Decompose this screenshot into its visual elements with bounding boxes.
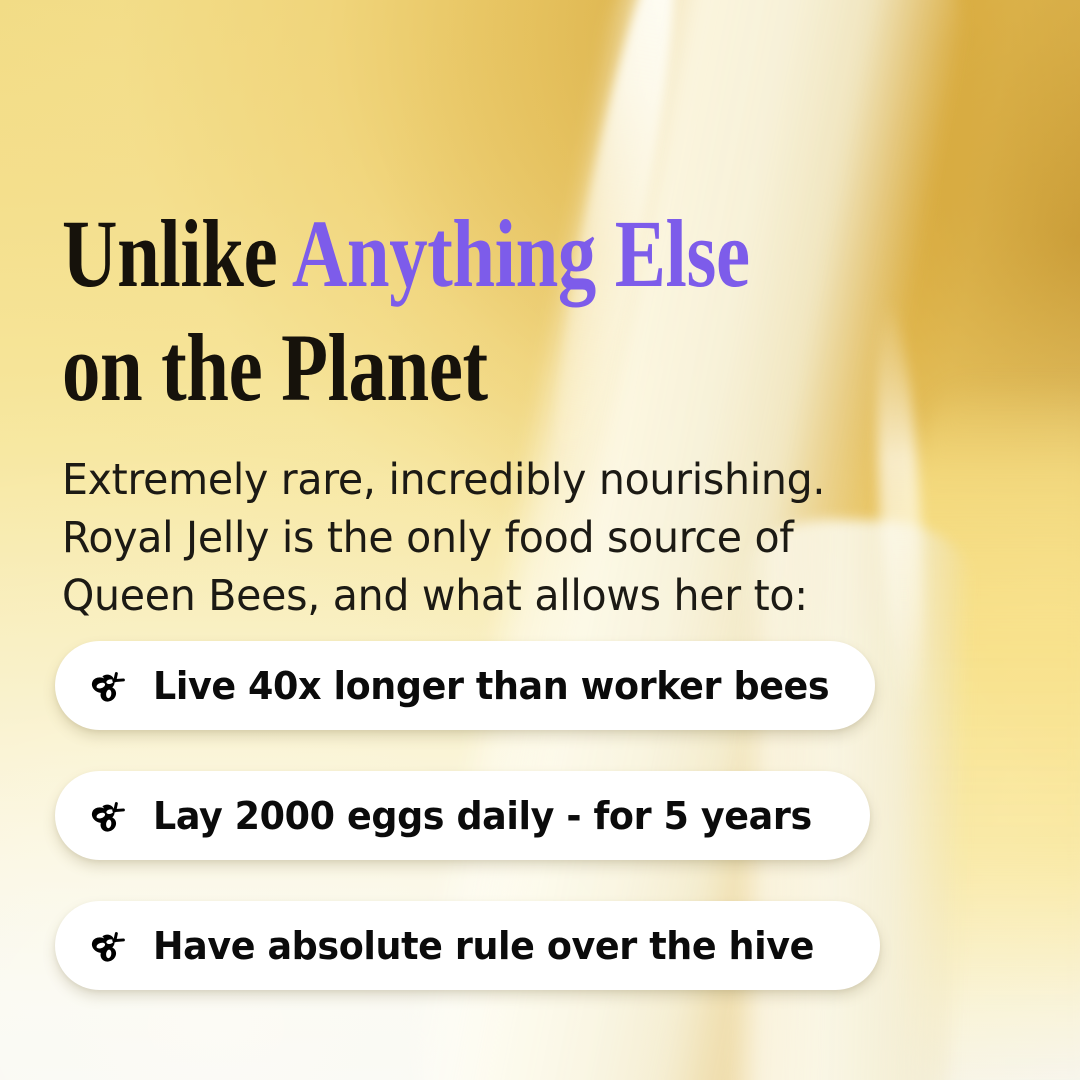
benefit-card-3: Have absolute rule over the hive [55, 901, 880, 990]
headline-line-1: Unlike Anything Else [62, 197, 782, 310]
bee-icon [85, 663, 131, 709]
benefit-card-1: Live 40x longer than worker bees [55, 641, 875, 730]
page-title: Unlike Anything Else on the Planet [62, 197, 782, 424]
bee-icon [85, 793, 131, 839]
benefit-label: Have absolute rule over the hive [153, 924, 814, 968]
subcopy-paragraph: Extremely rare, incredibly nourishing. R… [62, 451, 941, 625]
subcopy-line-1: Extremely rare, incredibly nourishing. [62, 451, 941, 509]
benefit-card-2: Lay 2000 eggs daily - for 5 years [55, 771, 870, 860]
subcopy-line-2: Royal Jelly is the only food source of [62, 509, 941, 567]
royal-jelly-promo-poster: Unlike Anything Else on the Planet Extre… [0, 0, 1080, 1080]
poster-content: Unlike Anything Else on the Planet Extre… [0, 0, 1080, 1080]
headline-plain-text: Unlike [62, 200, 292, 307]
benefit-list: Live 40x longer than worker bees Lay 200… [55, 641, 955, 990]
bee-icon [85, 923, 131, 969]
benefit-label: Lay 2000 eggs daily - for 5 years [153, 794, 812, 838]
benefit-label: Live 40x longer than worker bees [153, 664, 829, 708]
headline-line-2: on the Planet [62, 311, 782, 424]
subcopy-line-3: Queen Bees, and what allows her to: [62, 567, 941, 625]
headline-accent-text: Anything Else [292, 200, 750, 307]
